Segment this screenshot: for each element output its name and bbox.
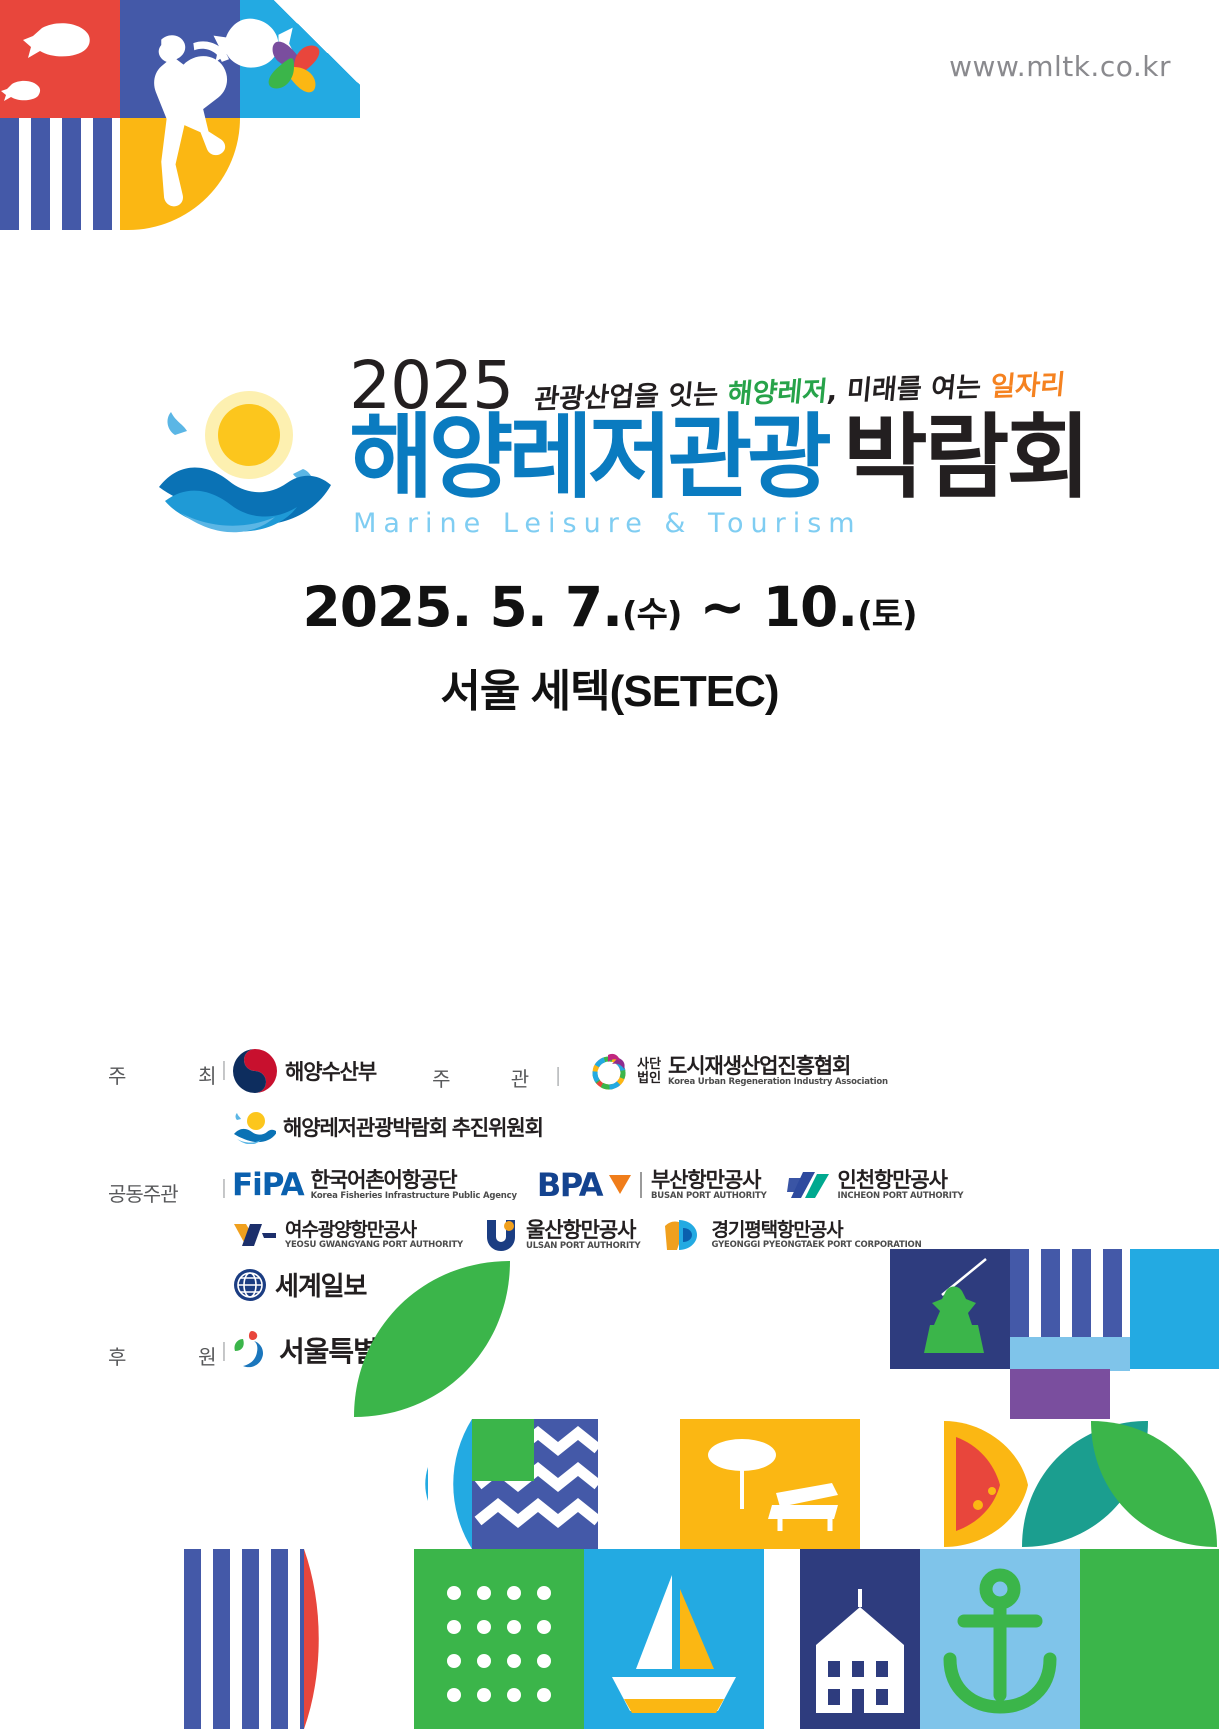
tagline-part-2: , 미래를 여는 [826, 372, 992, 408]
org-en-bpa: BUSAN PORT AUTHORITY [651, 1192, 767, 1201]
harbor-building-icon [800, 1549, 920, 1729]
event-date: 2025. 5. 7.(수) ~ 10.(토) [0, 575, 1219, 639]
leaf-green-icon [352, 1259, 512, 1419]
mosaic-tile-stripes-2 [1010, 1249, 1130, 1337]
half-circle-cyan-icon [332, 1419, 472, 1549]
event-date-dow-end: (토) [857, 595, 916, 635]
org-stack-kuria: 도시재생산업진흥협회 Korea Urban Regeneration Indu… [668, 1056, 888, 1087]
org-logo-mof: 해양수산부 [232, 1048, 376, 1094]
main-title-block: 2025 관광산업을 잇는 해양레저, 미래를 여는 일자리 해양레저관광 박람… [0, 355, 1219, 719]
org-name-fipa: 한국어촌어항공단 [311, 1170, 517, 1192]
mosaic-tile-purple [1010, 1369, 1110, 1419]
top-decorative-mosaic [0, 0, 360, 230]
tagline-part-1: 관광산업을 잇는 [533, 379, 729, 415]
dot-grid-icon [414, 1549, 584, 1729]
upa-u-icon [483, 1218, 519, 1252]
logo-title-black: 박람회 [843, 412, 1088, 504]
fipa-wordmark: FiPA [232, 1167, 304, 1203]
org-logo-gppc: 경기평택항만공사 GYEONGGI PYEONGTAEK PORT CORPOR… [661, 1218, 922, 1252]
scuba-diver-icon [108, 20, 268, 225]
host-logos: 해양수산부 주 관 | 사단 법인 [232, 1048, 1048, 1144]
tagline-highlight-2: 일자리 [989, 370, 1067, 403]
mosaic-tile-green-mid [472, 1419, 534, 1481]
ipa-wing-icon [787, 1170, 831, 1200]
coorganizer-label: 공동주관 [108, 1166, 216, 1207]
mini-sun-wave-icon [232, 1110, 276, 1144]
bpa-wordmark: BPA [537, 1166, 602, 1204]
organizer-separator: | [550, 1054, 566, 1088]
host-label-a: 주 [108, 1060, 126, 1089]
org-pill-kuria: 사단 법인 [637, 1057, 661, 1084]
org-en-ipa: INCHEON PORT AUTHORITY [838, 1192, 964, 1201]
coorganizer-separator: | [216, 1166, 232, 1200]
org-name-kuria: 도시재생산업진흥협회 [668, 1056, 888, 1078]
org-logo-committee: 해양레저관광박람회 추진위원회 [232, 1110, 543, 1144]
organizer-label-a: 주 [432, 1063, 449, 1092]
mosaic-tile-lightblue [1010, 1337, 1130, 1371]
logo-text-column: 2025 관광산업을 잇는 해양레저, 미래를 여는 일자리 해양레저관광 박람… [349, 355, 1088, 539]
event-venue: 서울 세텍(SETEC) [0, 655, 1219, 719]
logo-title-line: 해양레저관광 박람회 [349, 412, 1088, 504]
leaf-green-right-icon [1089, 1419, 1219, 1549]
org-name-gppc: 경기평택항만공사 [712, 1221, 922, 1241]
colorful-ring-icon [588, 1050, 630, 1092]
org-en-fipa: Korea Fisheries Infrastructure Public Ag… [311, 1192, 517, 1201]
credit-row-host-organizer: 주 최 | 해양수산부 주 관 | [108, 1048, 1048, 1144]
beach-umbrella-chair-icon [680, 1419, 860, 1549]
org-logo-fipa: FiPA 한국어촌어항공단 Korea Fisheries Infrastruc… [232, 1167, 517, 1203]
bpa-divider [640, 1172, 642, 1198]
fish-icon [0, 0, 120, 118]
logo-english-subtitle: Marine Leisure & Tourism [349, 508, 1088, 539]
event-date-dow-start: (수) [622, 595, 681, 635]
event-date-start: 2025. 5. 7. [302, 575, 622, 639]
host-separator: | [216, 1048, 232, 1082]
org-stack-bpa: 부산항만공사 BUSAN PORT AUTHORITY [651, 1170, 767, 1201]
mosaic-tile-stripes-3 [184, 1549, 304, 1729]
org-logo-ipa: 인천항만공사 INCHEON PORT AUTHORITY [787, 1170, 964, 1201]
org-name-committee: 해양레저관광박람회 추진위원회 [283, 1112, 543, 1142]
org-name-ygpa: 여수광양항만공사 [285, 1221, 463, 1241]
sun-wave-emblem-icon [151, 383, 341, 533]
org-logo-ygpa: 여수광양항만공사 YEOSU GWANGYANG PORT AUTHORITY [232, 1221, 463, 1250]
org-stack-ygpa: 여수광양항만공사 YEOSU GWANGYANG PORT AUTHORITY [285, 1221, 463, 1250]
org-stack-ipa: 인천항만공사 INCHEON PORT AUTHORITY [838, 1170, 964, 1201]
org-name-upa: 울산항만공사 [526, 1220, 641, 1242]
org-name-mof: 해양수산부 [285, 1056, 376, 1086]
tagline-highlight-1: 해양레저 [726, 377, 829, 411]
organizer-label-b: 관 [511, 1063, 528, 1092]
site-url: www.mltk.co.kr [949, 50, 1171, 83]
half-circle-white-right-icon [1080, 1549, 1219, 1729]
org-logo-upa: 울산항만공사 ULSAN PORT AUTHORITY [483, 1218, 641, 1252]
logo-title-blue: 해양레저관광 [349, 412, 827, 504]
ygpa-yg-icon [232, 1221, 278, 1249]
org-name-ipa: 인천항만공사 [838, 1170, 964, 1192]
gppc-sail-icon [661, 1218, 705, 1252]
org-logo-kuria: 사단 법인 도시재생산업진흥협회 Korea Urban Regeneratio… [588, 1050, 888, 1092]
host-label-b: 최 [198, 1060, 216, 1089]
org-pill-bottom: 법인 [637, 1071, 661, 1085]
org-stack-fipa: 한국어촌어항공단 Korea Fisheries Infrastructure … [311, 1170, 517, 1201]
bottom-decorative-mosaic [0, 1249, 1219, 1729]
mosaic-tile-stripes [0, 118, 120, 230]
org-pill-top: 사단 [637, 1057, 661, 1071]
organizer-label: 주 관 [398, 1051, 528, 1092]
org-en-kuria: Korea Urban Regeneration Industry Associ… [668, 1078, 888, 1087]
org-stack-gppc: 경기평택항만공사 GYEONGGI PYEONGTAEK PORT CORPOR… [712, 1221, 922, 1250]
event-date-end: ~ 10. [681, 575, 857, 639]
bpa-triangle-icon [609, 1175, 631, 1195]
taegeuk-icon [232, 1048, 278, 1094]
half-circle-red-icon [304, 1549, 414, 1729]
mosaic-tile-cyan-right [1130, 1249, 1219, 1369]
fisherman-icon [890, 1249, 1010, 1369]
host-label: 주 최 [108, 1048, 216, 1089]
sailboat-icon [584, 1549, 764, 1729]
anchor-icon [920, 1549, 1080, 1729]
event-logo: 2025 관광산업을 잇는 해양레저, 미래를 여는 일자리 해양레저관광 박람… [0, 355, 1219, 539]
pinwheel-flower-icon [255, 28, 333, 106]
org-name-bpa: 부산항만공사 [651, 1170, 767, 1192]
org-logo-bpa: BPA 부산항만공사 BUSAN PORT AUTHORITY [537, 1166, 767, 1204]
org-stack-upa: 울산항만공사 ULSAN PORT AUTHORITY [526, 1220, 641, 1251]
surfboard-icon [860, 1419, 1030, 1549]
